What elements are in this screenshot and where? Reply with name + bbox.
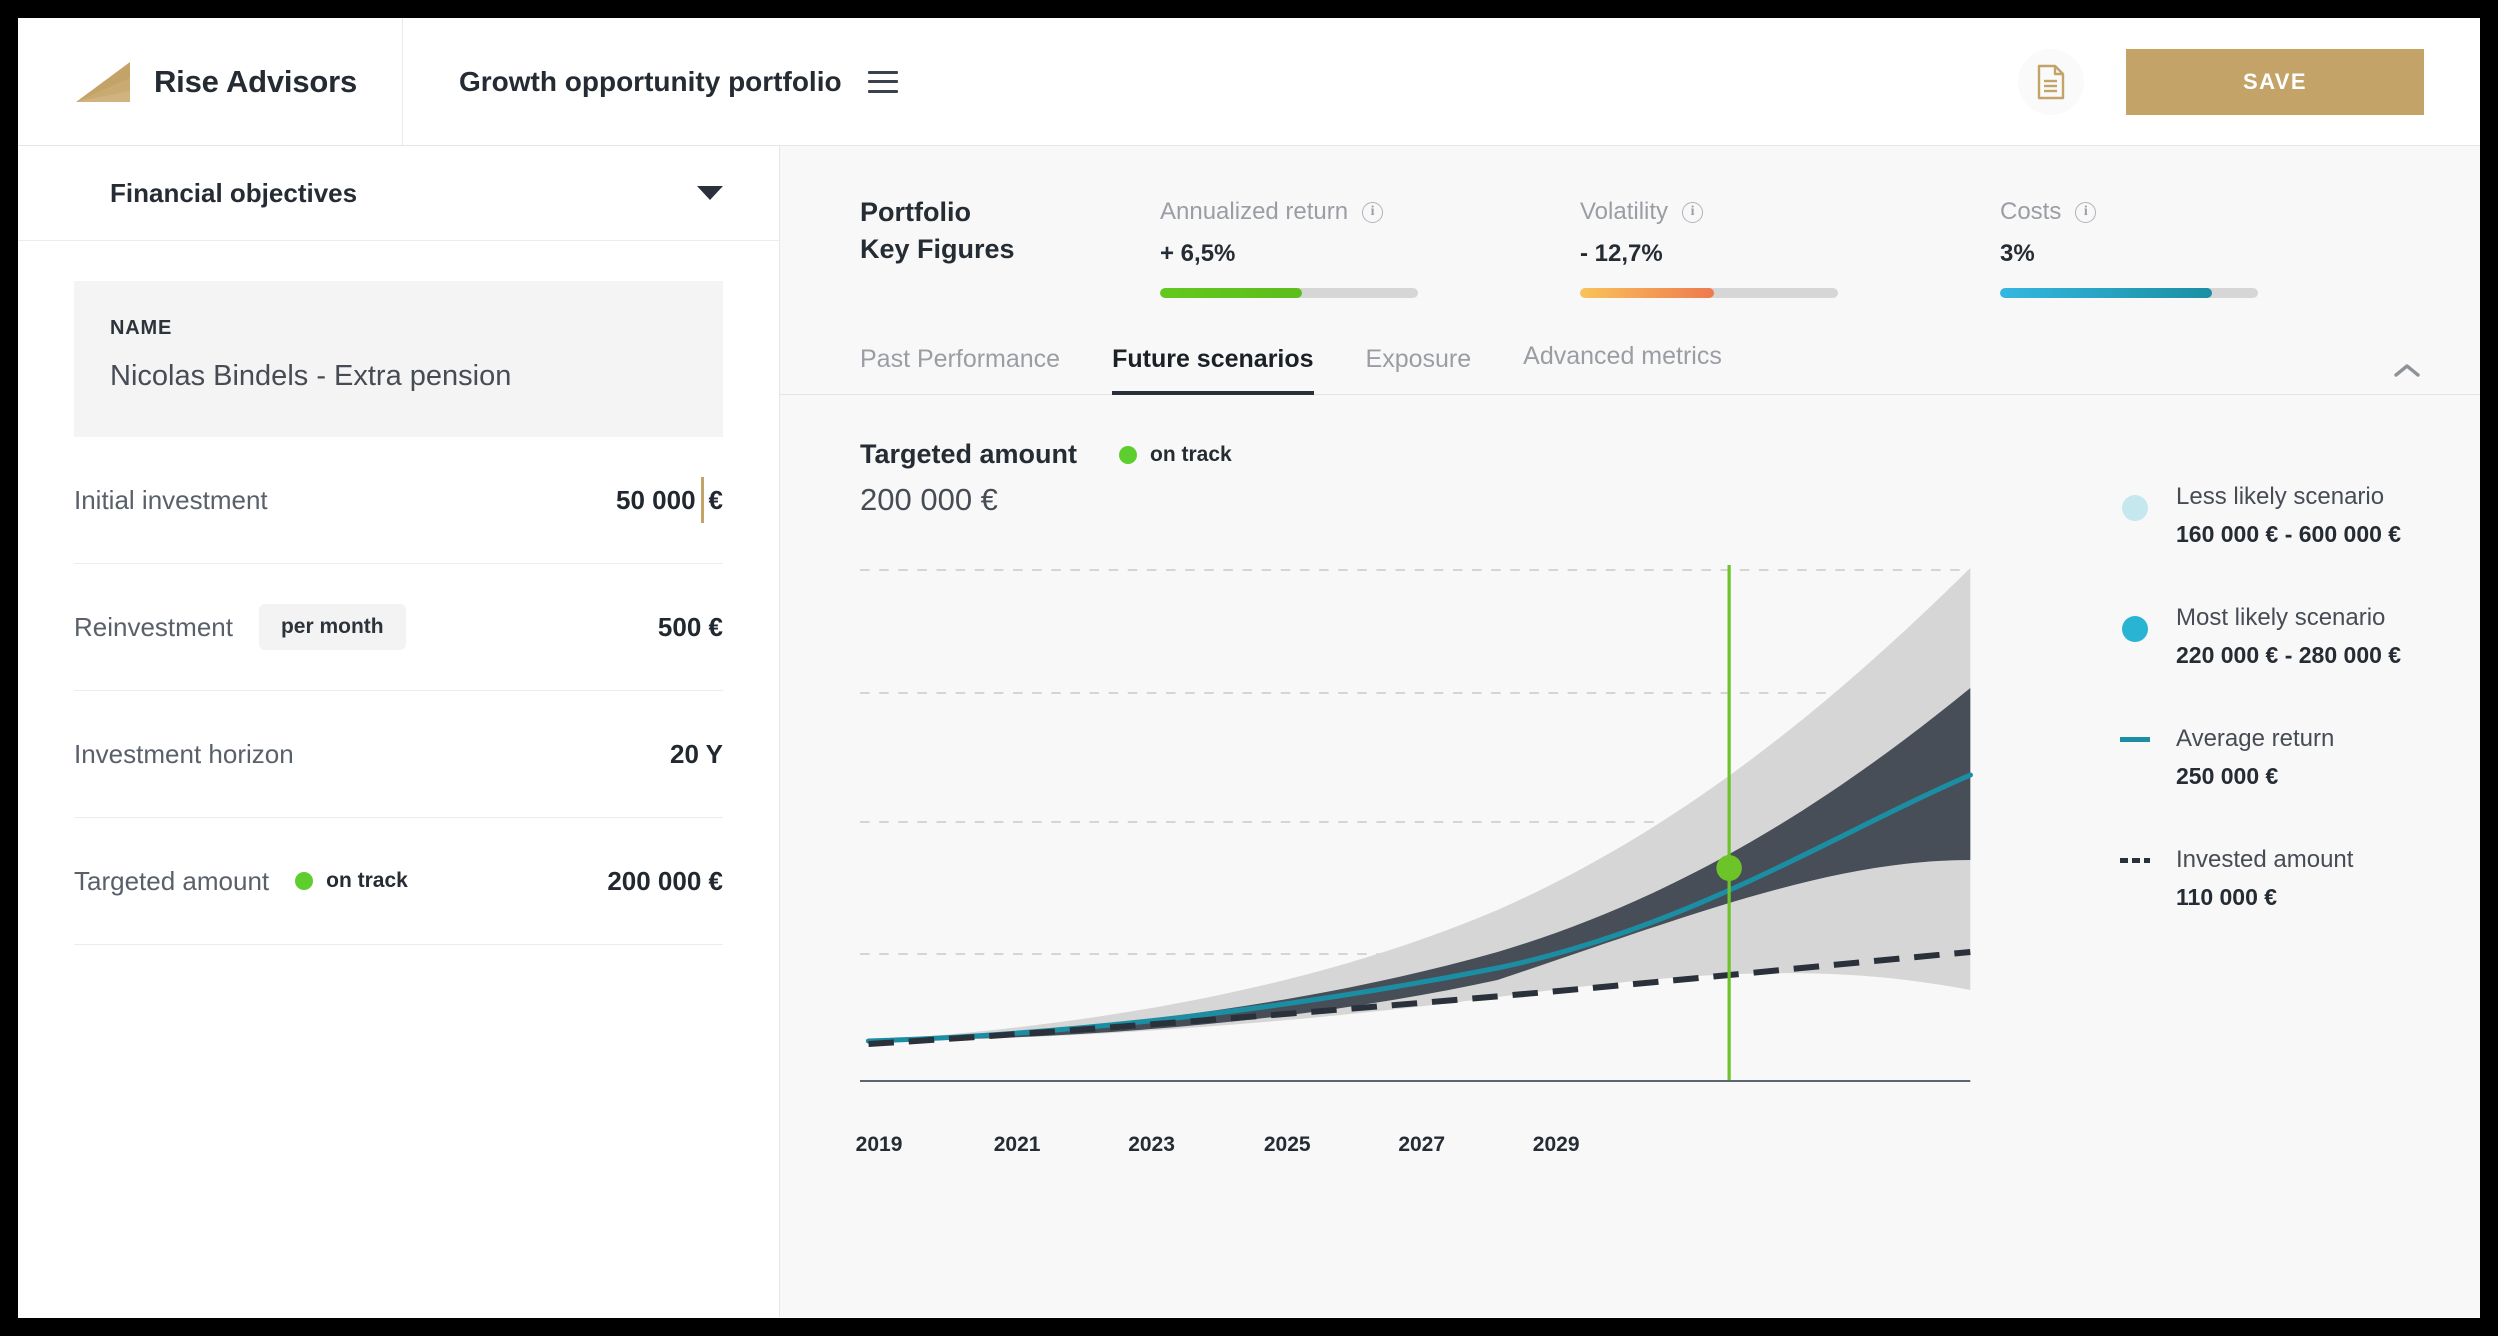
info-icon[interactable]: i bbox=[1362, 202, 1383, 223]
chart-header: Targeted amount on track bbox=[860, 439, 2050, 470]
document-title: Growth opportunity portfolio bbox=[459, 66, 842, 98]
body-container: Financial objectives NAME Nicolas Bindel… bbox=[18, 146, 2480, 1317]
frequency-chip[interactable]: per month bbox=[259, 604, 406, 650]
field-row-reinvestment[interactable]: Reinvestment per month 500 € bbox=[74, 564, 723, 691]
field-label: Reinvestment bbox=[74, 612, 233, 643]
key-figure-volatility: Volatility i - 12,7% bbox=[1580, 198, 2000, 298]
key-figures-title: Portfolio Key Figures bbox=[860, 194, 1160, 269]
name-field-label: NAME bbox=[110, 317, 687, 340]
key-figure-value: - 12,7% bbox=[1580, 240, 2000, 268]
x-tick-label: 2029 bbox=[1533, 1133, 1580, 1157]
status-label: on track bbox=[326, 869, 408, 893]
key-figure-progress-bar bbox=[1160, 288, 1418, 298]
key-figure-head: Annualized return i bbox=[1160, 198, 1580, 226]
field-value-number: 50 000 bbox=[616, 485, 696, 516]
key-figure-label: Costs bbox=[2000, 198, 2061, 226]
financial-objectives-sidebar: Financial objectives NAME Nicolas Bindel… bbox=[18, 146, 780, 1317]
tab-advanced-metrics[interactable]: Advanced metrics bbox=[1523, 342, 1722, 394]
key-figures-section: Portfolio Key Figures Annualized return … bbox=[780, 146, 2480, 298]
legend-label: Most likely scenario bbox=[2176, 604, 2401, 632]
key-figure-label: Annualized return bbox=[1160, 198, 1348, 226]
name-field-value[interactable]: Nicolas Bindels - Extra pension bbox=[110, 360, 687, 393]
legend-dashed-line-icon bbox=[2120, 858, 2150, 863]
field-row-initial-investment[interactable]: Initial investment 50 000€ bbox=[74, 437, 723, 564]
save-button[interactable]: SAVE bbox=[2126, 49, 2424, 115]
key-figure-head: Volatility i bbox=[1580, 198, 2000, 226]
tab-bar: Past Performance Future scenarios Exposu… bbox=[780, 298, 2480, 395]
legend-line-icon bbox=[2120, 737, 2150, 742]
key-figures-title-line2: Key Figures bbox=[860, 231, 1160, 268]
legend-label: Less likely scenario bbox=[2176, 483, 2401, 511]
chart-area: Targeted amount on track 200 000 € bbox=[860, 395, 2050, 1317]
chart-status-badge: on track bbox=[1119, 443, 1232, 467]
tab-future-scenarios[interactable]: Future scenarios bbox=[1112, 345, 1313, 394]
brand-area: Rise Advisors bbox=[18, 18, 403, 145]
x-axis-ticks: 2019 2021 2023 2025 2027 2029 bbox=[860, 1133, 2050, 1173]
legend-value: 220 000 € - 280 000 € bbox=[2176, 642, 2401, 669]
legend-swatch bbox=[2120, 846, 2150, 863]
status-dot-icon bbox=[1119, 446, 1137, 464]
key-figures-title-line1: Portfolio bbox=[860, 194, 1160, 231]
hamburger-menu-icon[interactable] bbox=[868, 71, 898, 93]
field-value-reinvestment[interactable]: 500 € bbox=[658, 612, 723, 643]
legend-item-average-return: Average return 250 000 € bbox=[2120, 725, 2440, 790]
document-title-area: Growth opportunity portfolio bbox=[403, 66, 898, 98]
legend-label: Invested amount bbox=[2176, 846, 2353, 874]
legend-text: Average return 250 000 € bbox=[2176, 725, 2334, 790]
field-value-currency: € bbox=[709, 485, 723, 516]
key-figures-list: Annualized return i + 6,5% Volatility i bbox=[1160, 194, 2420, 298]
field-value-initial-investment[interactable]: 50 000€ bbox=[616, 477, 723, 523]
tab-past-performance[interactable]: Past Performance bbox=[860, 345, 1060, 394]
key-figure-label: Volatility bbox=[1580, 198, 1668, 226]
field-value-investment-horizon[interactable]: 20 Y bbox=[670, 739, 723, 770]
main-panel: Portfolio Key Figures Annualized return … bbox=[780, 146, 2480, 1317]
legend-swatch bbox=[2120, 483, 2150, 521]
info-icon[interactable]: i bbox=[2075, 202, 2096, 223]
chart-target-value: 200 000 € bbox=[860, 482, 2050, 518]
key-figure-value: + 6,5% bbox=[1160, 240, 1580, 268]
field-row-investment-horizon[interactable]: Investment horizon 20 Y bbox=[74, 691, 723, 818]
field-row-targeted-amount[interactable]: Targeted amount on track 200 000 € bbox=[74, 818, 723, 945]
chart-heading: Targeted amount bbox=[860, 439, 1077, 470]
key-figure-costs: Costs i 3% bbox=[2000, 198, 2420, 298]
field-label: Targeted amount bbox=[74, 866, 269, 897]
legend-text: Most likely scenario 220 000 € - 280 000… bbox=[2176, 604, 2401, 669]
key-figure-value: 3% bbox=[2000, 240, 2420, 268]
tab-exposure[interactable]: Exposure bbox=[1366, 345, 1472, 394]
legend-item-less-likely: Less likely scenario 160 000 € - 600 000… bbox=[2120, 483, 2440, 548]
key-figure-head: Costs i bbox=[2000, 198, 2420, 226]
field-value-targeted-amount[interactable]: 200 000 € bbox=[607, 866, 723, 897]
sidebar-section-title: Financial objectives bbox=[110, 178, 357, 209]
field-label: Investment horizon bbox=[74, 739, 294, 770]
status-dot-icon bbox=[295, 872, 313, 890]
key-figure-progress-bar bbox=[2000, 288, 2258, 298]
brand-name: Rise Advisors bbox=[154, 64, 357, 100]
x-tick-label: 2019 bbox=[856, 1133, 903, 1157]
legend-text: Less likely scenario 160 000 € - 600 000… bbox=[2176, 483, 2401, 548]
name-card[interactable]: NAME Nicolas Bindels - Extra pension bbox=[74, 281, 723, 437]
text-cursor bbox=[701, 477, 704, 523]
x-tick-label: 2021 bbox=[994, 1133, 1041, 1157]
legend-value: 110 000 € bbox=[2176, 884, 2353, 911]
header-actions: SAVE bbox=[2018, 49, 2480, 115]
plot-container: 2019 2021 2023 2025 2027 2029 bbox=[860, 560, 2050, 1317]
x-tick-label: 2027 bbox=[1398, 1133, 1445, 1157]
legend-dot-icon bbox=[2122, 495, 2148, 521]
legend-label: Average return bbox=[2176, 725, 2334, 753]
chart-status-label: on track bbox=[1150, 443, 1232, 467]
document-report-icon[interactable] bbox=[2018, 49, 2084, 115]
key-figure-progress-fill bbox=[1160, 288, 1302, 298]
future-scenarios-chart-block: Targeted amount on track 200 000 € bbox=[780, 395, 2480, 1317]
sidebar-section-header[interactable]: Financial objectives bbox=[18, 146, 779, 241]
info-icon[interactable]: i bbox=[1682, 202, 1703, 223]
document-report-glyph bbox=[2036, 64, 2066, 100]
key-figure-progress-bar bbox=[1580, 288, 1838, 298]
x-tick-label: 2023 bbox=[1128, 1133, 1175, 1157]
legend-value: 250 000 € bbox=[2176, 763, 2334, 790]
app-window: Rise Advisors Growth opportunity portfol… bbox=[18, 18, 2480, 1318]
status-badge: on track bbox=[295, 869, 408, 893]
target-marker-dot[interactable] bbox=[1716, 855, 1742, 881]
key-figure-progress-fill bbox=[2000, 288, 2212, 298]
scenario-plot bbox=[860, 560, 2050, 1125]
legend-dot-icon bbox=[2122, 616, 2148, 642]
legend-swatch bbox=[2120, 604, 2150, 642]
legend-swatch bbox=[2120, 725, 2150, 742]
x-tick-label: 2025 bbox=[1264, 1133, 1311, 1157]
rise-triangle-logo-icon bbox=[74, 60, 132, 104]
app-header: Rise Advisors Growth opportunity portfol… bbox=[18, 18, 2480, 146]
legend-value: 160 000 € - 600 000 € bbox=[2176, 521, 2401, 548]
key-figure-annualized-return: Annualized return i + 6,5% bbox=[1160, 198, 1580, 298]
legend-item-most-likely: Most likely scenario 220 000 € - 280 000… bbox=[2120, 604, 2440, 669]
caret-down-icon[interactable] bbox=[697, 186, 723, 200]
field-label: Initial investment bbox=[74, 485, 268, 516]
legend-text: Invested amount 110 000 € bbox=[2176, 846, 2353, 911]
chevron-up-icon[interactable] bbox=[2394, 363, 2420, 378]
legend-item-invested-amount: Invested amount 110 000 € bbox=[2120, 846, 2440, 911]
chart-legend: Less likely scenario 160 000 € - 600 000… bbox=[2050, 395, 2480, 1317]
key-figure-progress-fill bbox=[1580, 288, 1714, 298]
